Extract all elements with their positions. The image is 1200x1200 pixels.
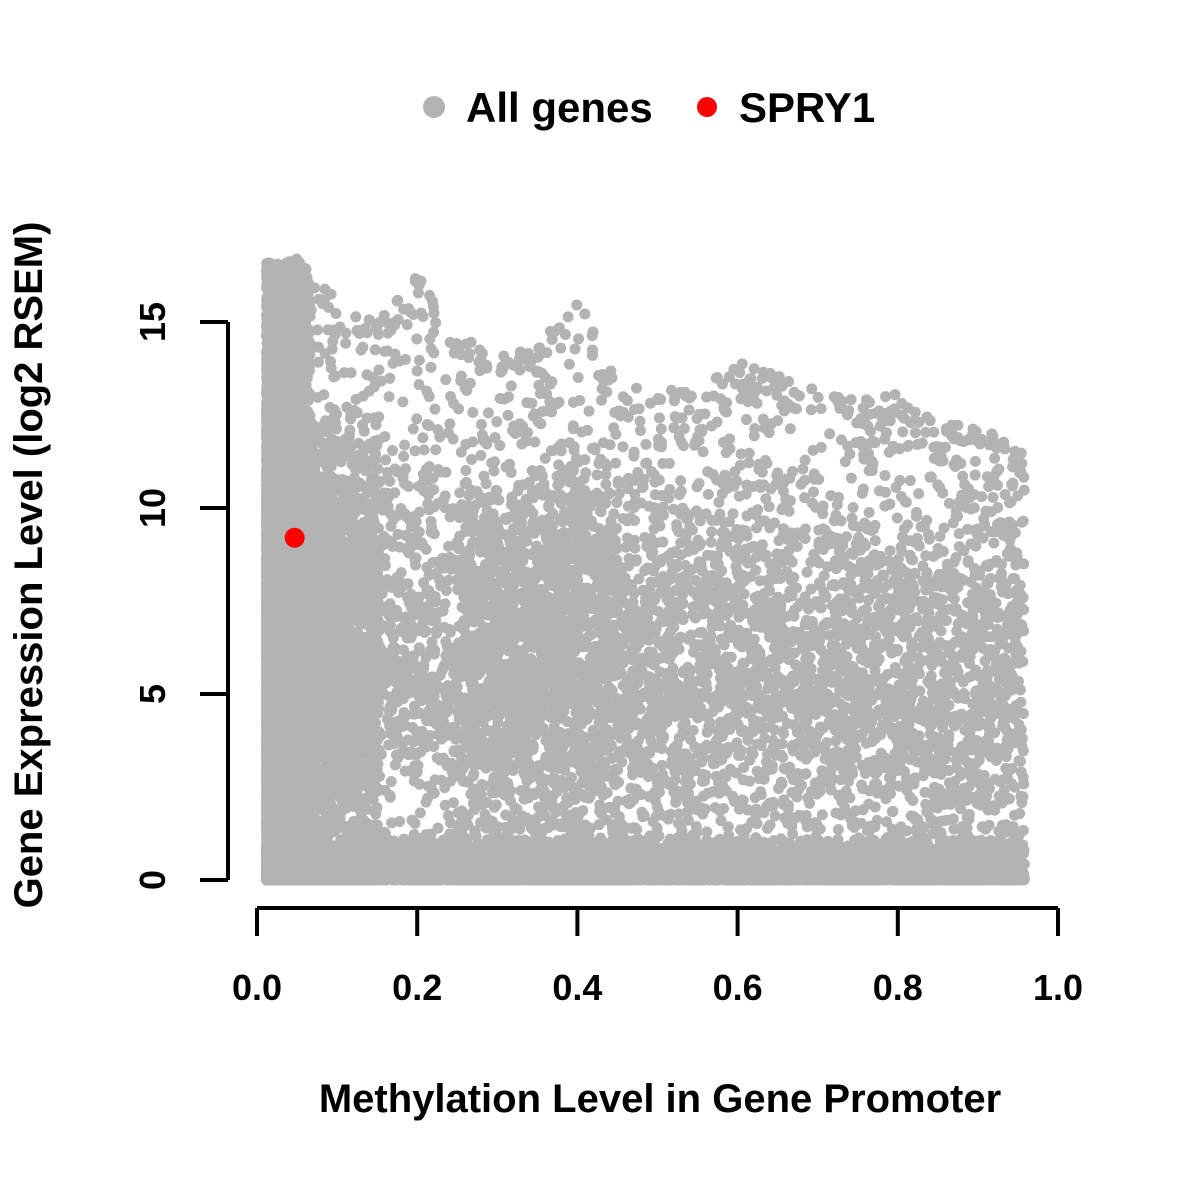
tick-label: 0 [132,870,173,890]
tick-label: 0.0 [232,967,282,1008]
tick-label: 15 [132,302,173,342]
tick-label: 5 [132,684,173,704]
tick-label: 10 [132,488,173,528]
y-axis-title: Gene Expression Level (log2 RSEM) [7,222,51,909]
tick-label: 0.8 [873,967,923,1008]
plot-canvas: 0.00.20.40.60.81.0051015 Methylation Lev… [0,0,1200,1200]
x-axis-title: Methylation Level in Gene Promoter [319,1077,1001,1121]
tick-label: 0.6 [713,967,763,1008]
legend-marker-spry1 [697,97,717,117]
scatter-plot-figure: 0.00.20.40.60.81.0051015 Methylation Lev… [0,0,1200,1200]
tick-label: 0.4 [552,967,602,1008]
series-spry1-point [285,528,305,548]
tick-label: 1.0 [1033,967,1083,1008]
legend-label-spry1: SPRY1 [739,84,875,131]
legend-label-all-genes: All genes [466,84,653,131]
legend: All genesSPRY1 [423,84,875,131]
tick-label: 0.2 [392,967,442,1008]
legend-marker-all-genes [423,96,445,118]
